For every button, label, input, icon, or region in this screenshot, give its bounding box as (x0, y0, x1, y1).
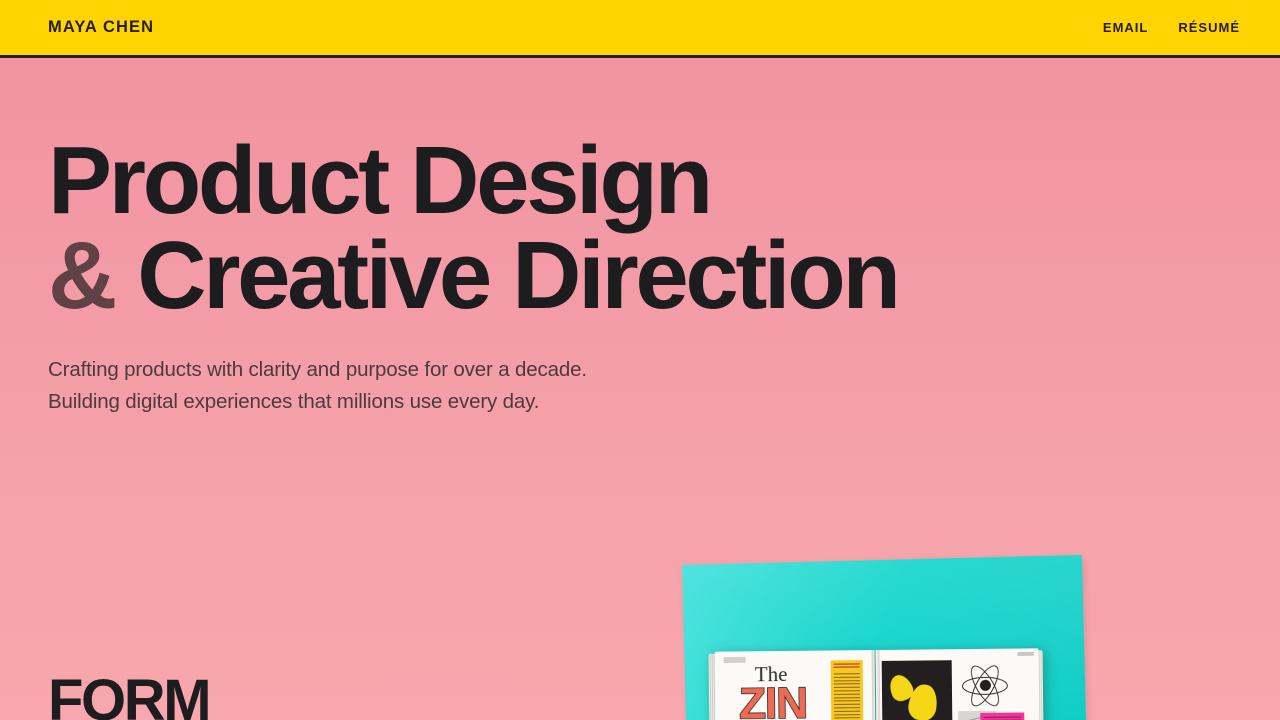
headline-line-1: Product Design (48, 134, 898, 229)
magazine-page-left: The ZIN (715, 650, 876, 720)
site-header: MAYA CHEN EMAIL RÉSUMÉ (0, 0, 1280, 58)
corner-caption-icon (1018, 652, 1034, 656)
running-head-icon (724, 657, 746, 662)
nav-link-email[interactable]: EMAIL (1103, 20, 1148, 35)
page-title: Product Design & Creative Direction (48, 134, 898, 323)
ampersand-glyph: & (48, 222, 114, 329)
subtitle-line-1: Crafting products with clarity and purpo… (48, 354, 587, 386)
portfolio-landing-page: MAYA CHEN EMAIL RÉSUMÉ Product Design & … (0, 0, 1280, 720)
sidebar-title-lines-icon (834, 663, 860, 669)
atom-diagram-icon (962, 663, 1008, 709)
magazine-photo: The ZIN (660, 548, 1100, 720)
headline-line-2: & Creative Direction (48, 229, 898, 324)
section-heading-form: FORM (48, 672, 209, 720)
black-art-panel (882, 660, 953, 720)
primary-nav: EMAIL RÉSUMÉ (1103, 20, 1240, 35)
nav-link-resume[interactable]: RÉSUMÉ (1178, 20, 1240, 35)
sidebar-body-lines-icon (834, 673, 861, 720)
hero-subtitle: Crafting products with clarity and purpo… (48, 354, 587, 418)
magazine-spine (872, 650, 881, 720)
brand-wordmark[interactable]: MAYA CHEN (48, 18, 154, 37)
magazine-page-right (876, 648, 1040, 720)
yellow-sidebar-column (831, 660, 864, 720)
open-magazine: The ZIN (715, 648, 1040, 720)
pink-sticky-note-icon (980, 712, 1024, 720)
headline-line-2-text: Creative Direction (114, 222, 898, 329)
subtitle-line-2: Building digital experiences that millio… (48, 386, 587, 418)
magazine-title-word: ZIN (739, 682, 807, 720)
